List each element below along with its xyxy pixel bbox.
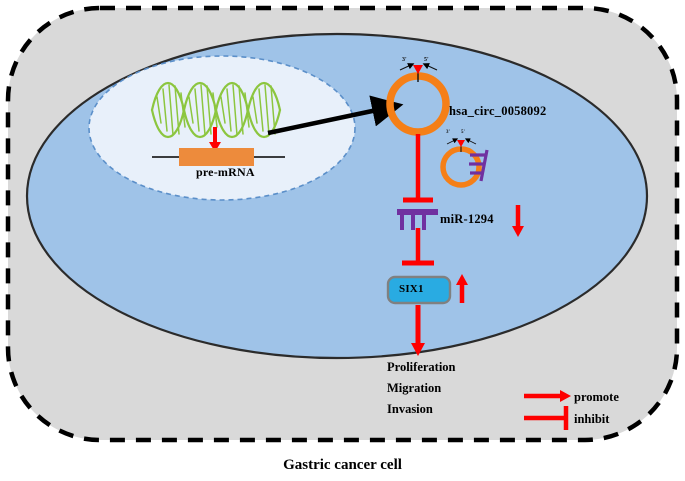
phenotype-migration: Migration (387, 382, 441, 395)
circrna-3prime-label: 3' (402, 57, 407, 63)
pre-mrna-label: pre-mRNA (196, 166, 255, 178)
mirna-label: miR-1294 (440, 213, 494, 226)
phenotype-proliferation: Proliferation (387, 361, 456, 374)
diagram-svg (0, 0, 685, 481)
circrna-5prime-label: 5' (424, 57, 429, 63)
phenotype-invasion: Invasion (387, 403, 433, 416)
legend-promote-label: promote (574, 391, 619, 404)
legend-inhibit-label: inhibit (574, 413, 609, 426)
circrna-label: hsa_circ_0058092 (449, 105, 546, 118)
figure-canvas: 3' 5' 3' 5' hsa_circ_0058092 miR-1294 SI… (0, 0, 685, 481)
complex-5prime-label: 5' (461, 130, 465, 135)
figure-title: Gastric cancer cell (0, 458, 685, 473)
complex-3prime-label: 3' (446, 130, 450, 135)
six1-label: SIX1 (399, 284, 424, 295)
